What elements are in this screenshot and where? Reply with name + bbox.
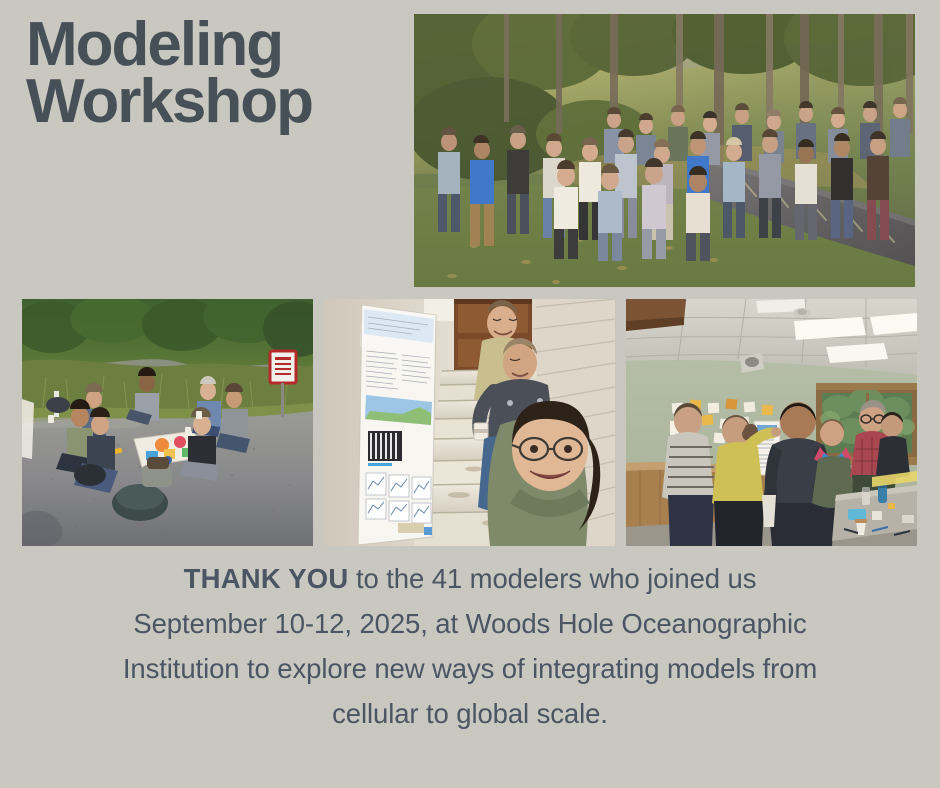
caption-block: THANK YOU to the 41 modelers who joined … (20, 556, 920, 736)
caption-line-2: September 10-12, 2025, at Woods Hole Oce… (20, 601, 920, 646)
title-line-1: Modeling (26, 16, 406, 73)
caption-line-1-rest: to the 41 modelers who joined us (348, 563, 756, 594)
title-line-2: Workshop (26, 73, 406, 130)
caption-line-1: THANK YOU to the 41 modelers who joined … (20, 556, 920, 601)
page-title: Modeling Workshop (26, 16, 406, 130)
caption-line-4: cellular to global scale. (20, 691, 920, 736)
stairwell-artwork (324, 299, 615, 546)
smoke-detector-icon (793, 308, 811, 318)
caption-lead: THANK YOU (184, 563, 349, 594)
photo-discussion-circle (22, 299, 313, 546)
group-photo-outdoors (414, 14, 915, 287)
group-photo-artwork (414, 14, 915, 287)
scientific-poster (358, 305, 436, 545)
photo-poster-stairwell (324, 299, 615, 546)
photo-sticky-note-session (626, 299, 917, 546)
poster-canvas: Modeling Workshop (0, 0, 940, 788)
workshop-room-artwork (626, 299, 917, 546)
discussion-circle-artwork (22, 299, 313, 546)
caption-line-3: Institution to explore new ways of integ… (20, 646, 920, 691)
